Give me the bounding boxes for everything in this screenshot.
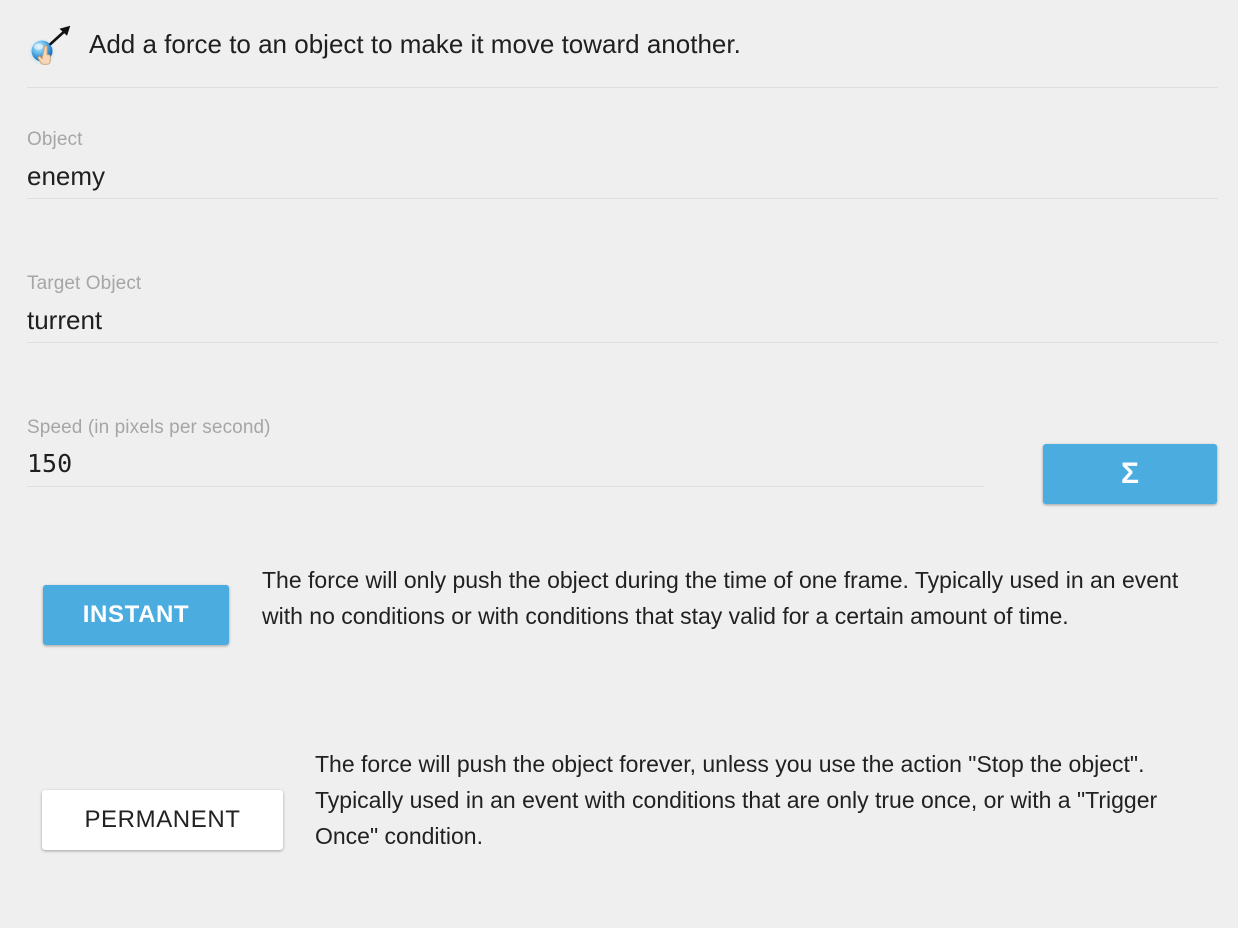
action-editor-panel: Add a force to an object to make it move… bbox=[0, 0, 1238, 928]
permanent-description: The force will push the object forever, … bbox=[315, 746, 1195, 854]
force-toward-object-icon bbox=[27, 23, 73, 67]
speed-input[interactable]: 150 bbox=[27, 439, 1218, 481]
target-object-input[interactable]: turrent bbox=[27, 295, 1218, 337]
field-target-object-label: Target Object bbox=[27, 272, 1218, 295]
field-target-object: Target Object turrent bbox=[27, 272, 1218, 343]
page-title: Add a force to an object to make it move… bbox=[89, 29, 741, 59]
field-speed-underline bbox=[27, 486, 984, 487]
mode-row-instant: INSTANT The force will only push the obj… bbox=[0, 562, 1238, 645]
instant-button[interactable]: INSTANT bbox=[43, 585, 229, 645]
field-speed: Speed (in pixels per second) 150 bbox=[27, 416, 1218, 487]
permanent-button[interactable]: PERMANENT bbox=[42, 790, 283, 850]
action-header: Add a force to an object to make it move… bbox=[0, 0, 1238, 87]
sigma-icon-button[interactable]: Σ bbox=[1043, 444, 1217, 504]
field-speed-label: Speed (in pixels per second) bbox=[27, 416, 1218, 439]
header-divider bbox=[27, 87, 1218, 88]
field-object-underline bbox=[27, 198, 1218, 199]
field-target-object-underline bbox=[27, 342, 1218, 343]
mode-row-permanent: PERMANENT The force will push the object… bbox=[0, 746, 1238, 854]
field-object-label: Object bbox=[27, 128, 1218, 151]
object-input[interactable]: enemy bbox=[27, 151, 1218, 193]
instant-description: The force will only push the object duri… bbox=[262, 562, 1202, 634]
field-object: Object enemy bbox=[27, 128, 1218, 199]
